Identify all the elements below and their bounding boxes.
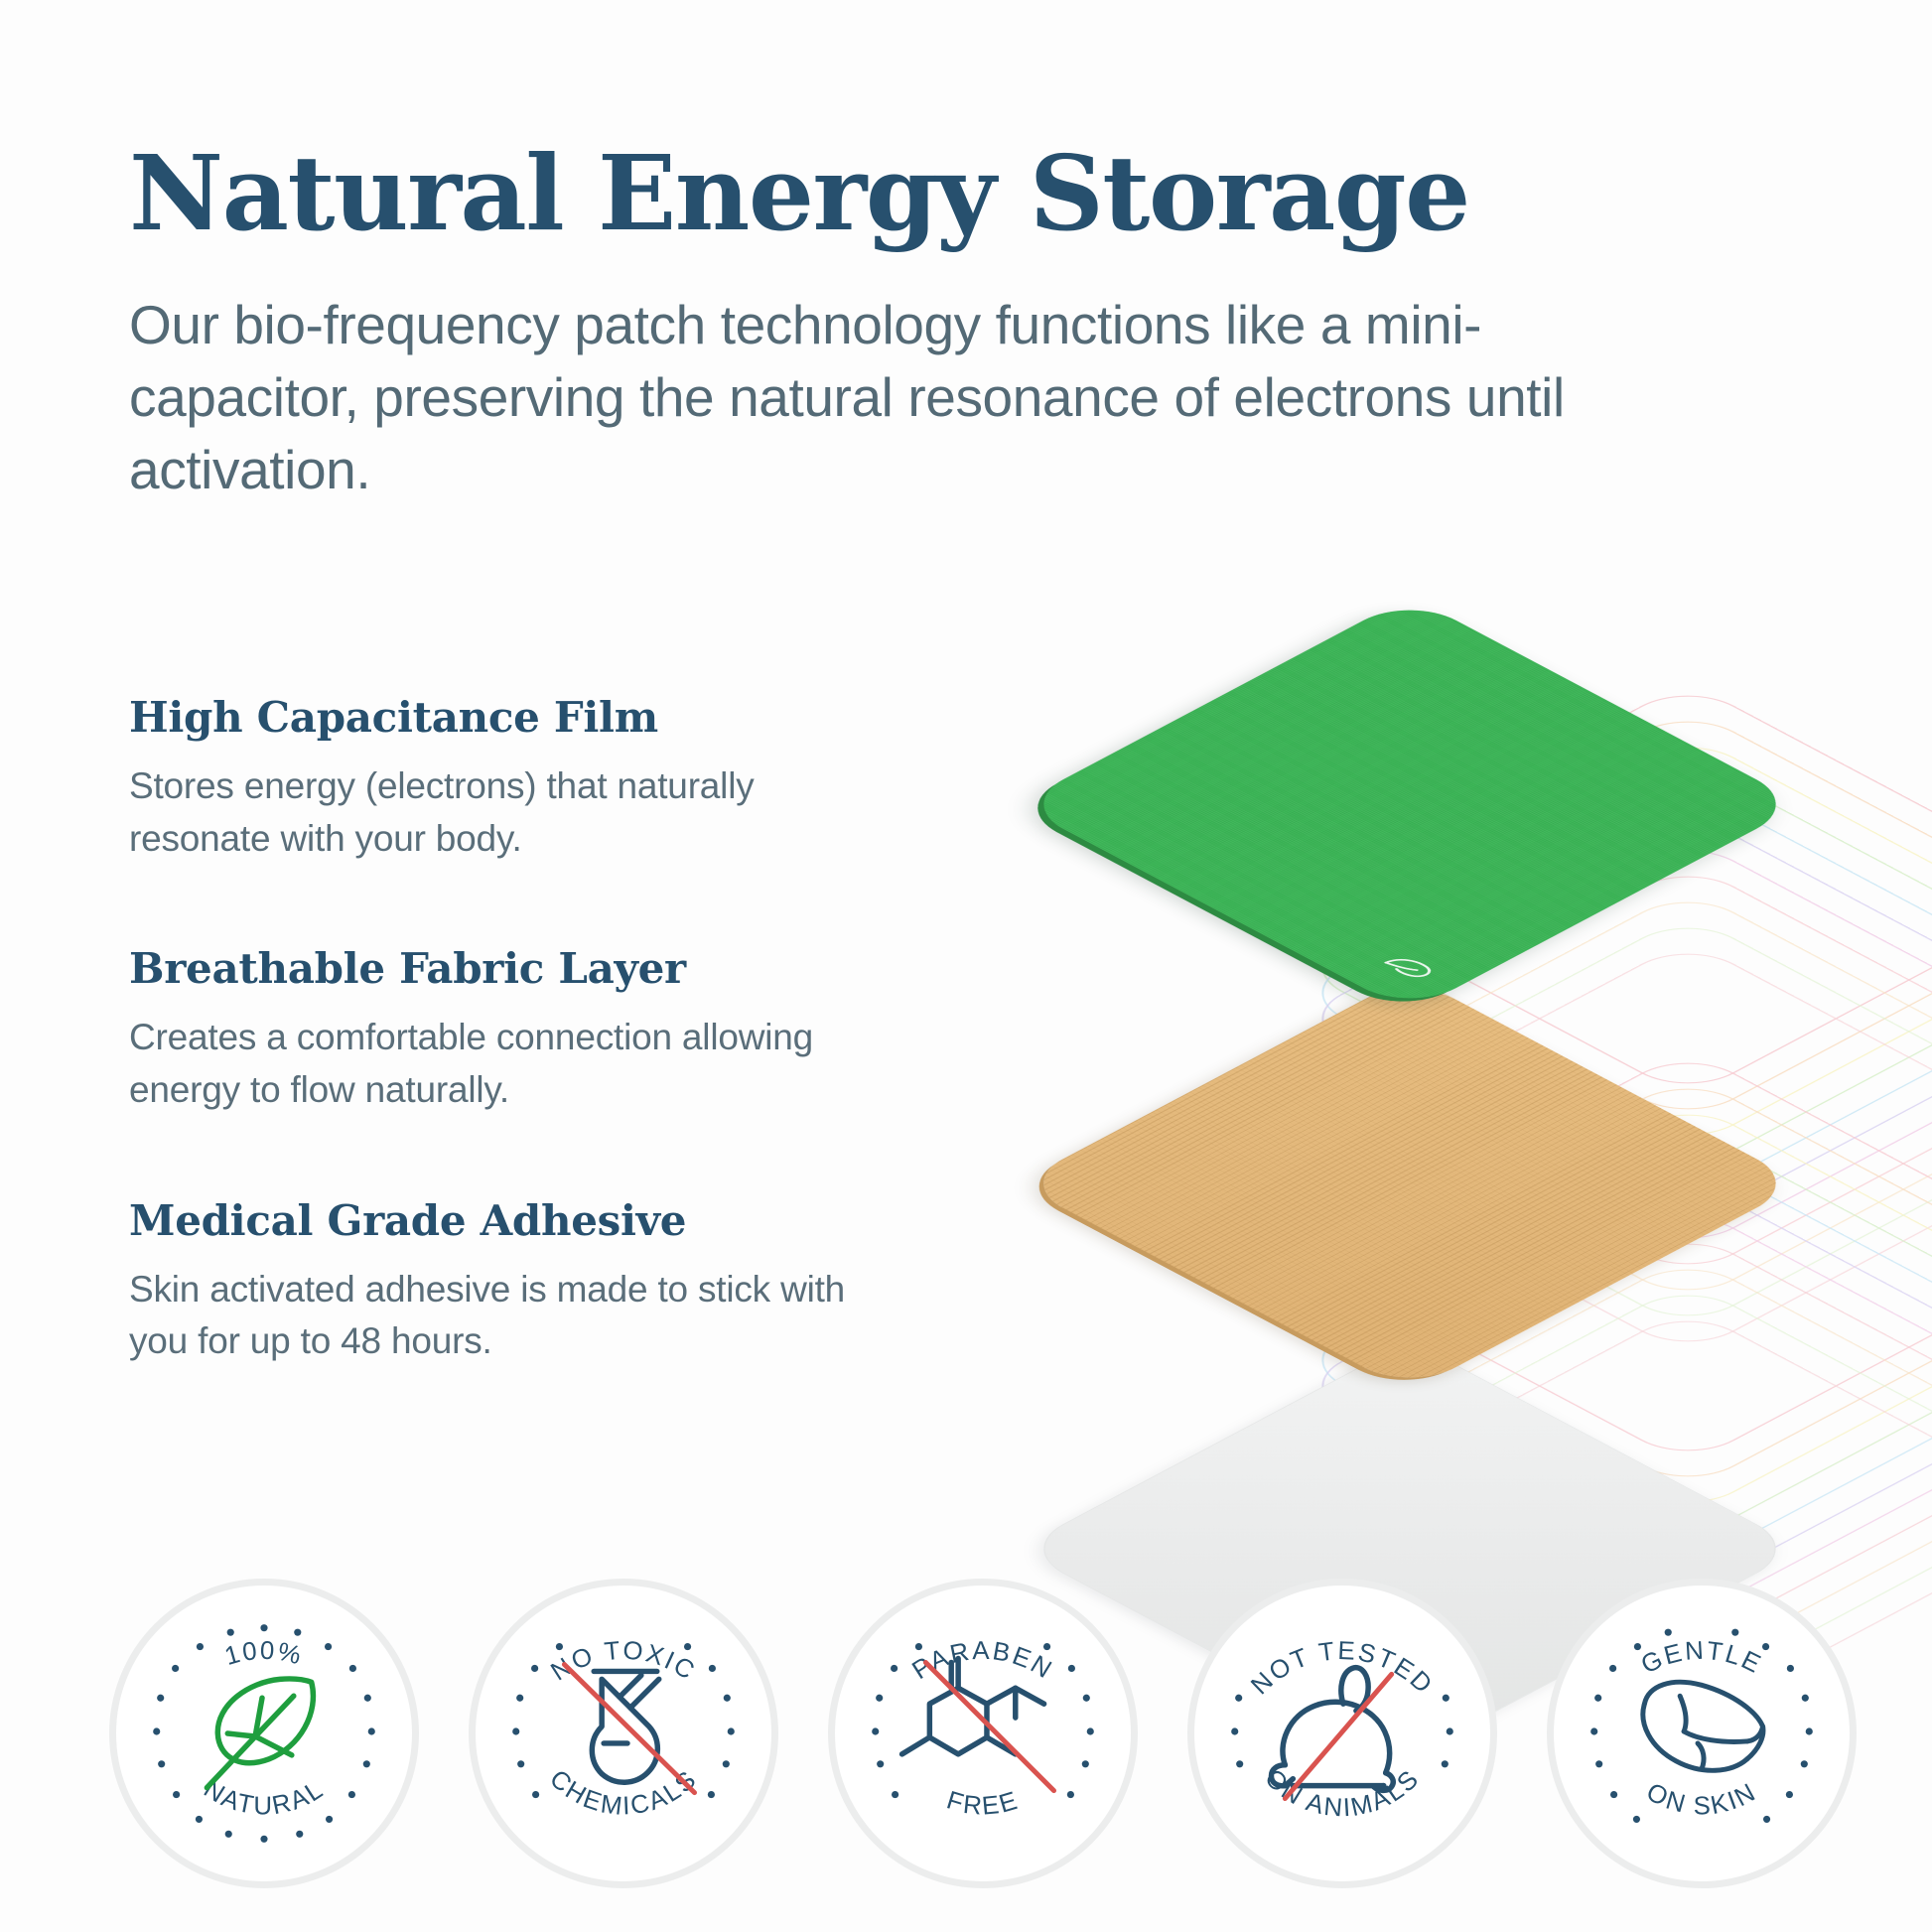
badge-no-toxic-chemicals: NO TOXIC CHEMICALS: [469, 1579, 778, 1888]
prohibition-slash: [925, 1662, 1053, 1790]
layer-title: Medical Grade Adhesive: [129, 1198, 923, 1244]
badge-paraben-free: PARABEN FREE: [828, 1579, 1138, 1888]
layer-item-adhesive: Medical Grade Adhesive Skin activated ad…: [129, 1198, 923, 1368]
badge-natural: 100% NATURAL: [109, 1579, 419, 1888]
layer-description: Creates a comfortable connection allowin…: [129, 1012, 903, 1116]
page-subtitle: Our bio-frequency patch technology funct…: [129, 289, 1678, 506]
layer-item-film: High Capacitance Film Stores energy (ele…: [129, 695, 923, 865]
badge-bottom-text: CHEMICALS: [544, 1765, 703, 1821]
exploded-patch-diagram: [993, 586, 1827, 1459]
badge-top-text: GENTLE: [1637, 1637, 1766, 1680]
layer-item-fabric: Breathable Fabric Layer Creates a comfor…: [129, 946, 923, 1116]
badge-top-text: 100%: [221, 1637, 306, 1671]
layer-title: Breathable Fabric Layer: [129, 946, 923, 992]
layer-description: Stores energy (electrons) that naturally…: [129, 760, 903, 865]
certification-badge-row: 100% NATURAL: [109, 1579, 1857, 1888]
feather-icon: [1643, 1682, 1763, 1770]
layer-title: High Capacitance Film: [129, 695, 923, 741]
rabbit-icon: [1271, 1668, 1393, 1791]
badge-gentle-on-skin: GENTLE ON SKIN: [1547, 1579, 1857, 1888]
iso-stage: [993, 586, 1827, 1459]
badge-bottom-text: ON SKIN: [1642, 1778, 1762, 1821]
leaf-icon: [207, 1679, 313, 1788]
layer-list: High Capacitance Film Stores energy (ele…: [129, 695, 923, 1368]
header: Natural Energy Storage Our bio-frequency…: [129, 139, 1698, 507]
page-title: Natural Energy Storage: [129, 139, 1698, 247]
badge-bottom-text: ON ANIMALS: [1259, 1764, 1425, 1823]
badge-not-tested-on-animals: NOT TESTED ON ANIMALS: [1187, 1579, 1497, 1888]
badge-bottom-text: NATURAL: [199, 1775, 329, 1821]
prohibition-slash: [1285, 1674, 1391, 1798]
infographic-page: Natural Energy Storage Our bio-frequency…: [0, 0, 1932, 1932]
badge-bottom-text: FREE: [943, 1786, 1022, 1821]
badge-top-text: NO TOXIC: [546, 1637, 700, 1687]
layer-description: Skin activated adhesive is made to stick…: [129, 1264, 903, 1368]
leaf-logo-icon: [1376, 950, 1442, 985]
badge-top-text: PARABEN: [907, 1637, 1057, 1685]
